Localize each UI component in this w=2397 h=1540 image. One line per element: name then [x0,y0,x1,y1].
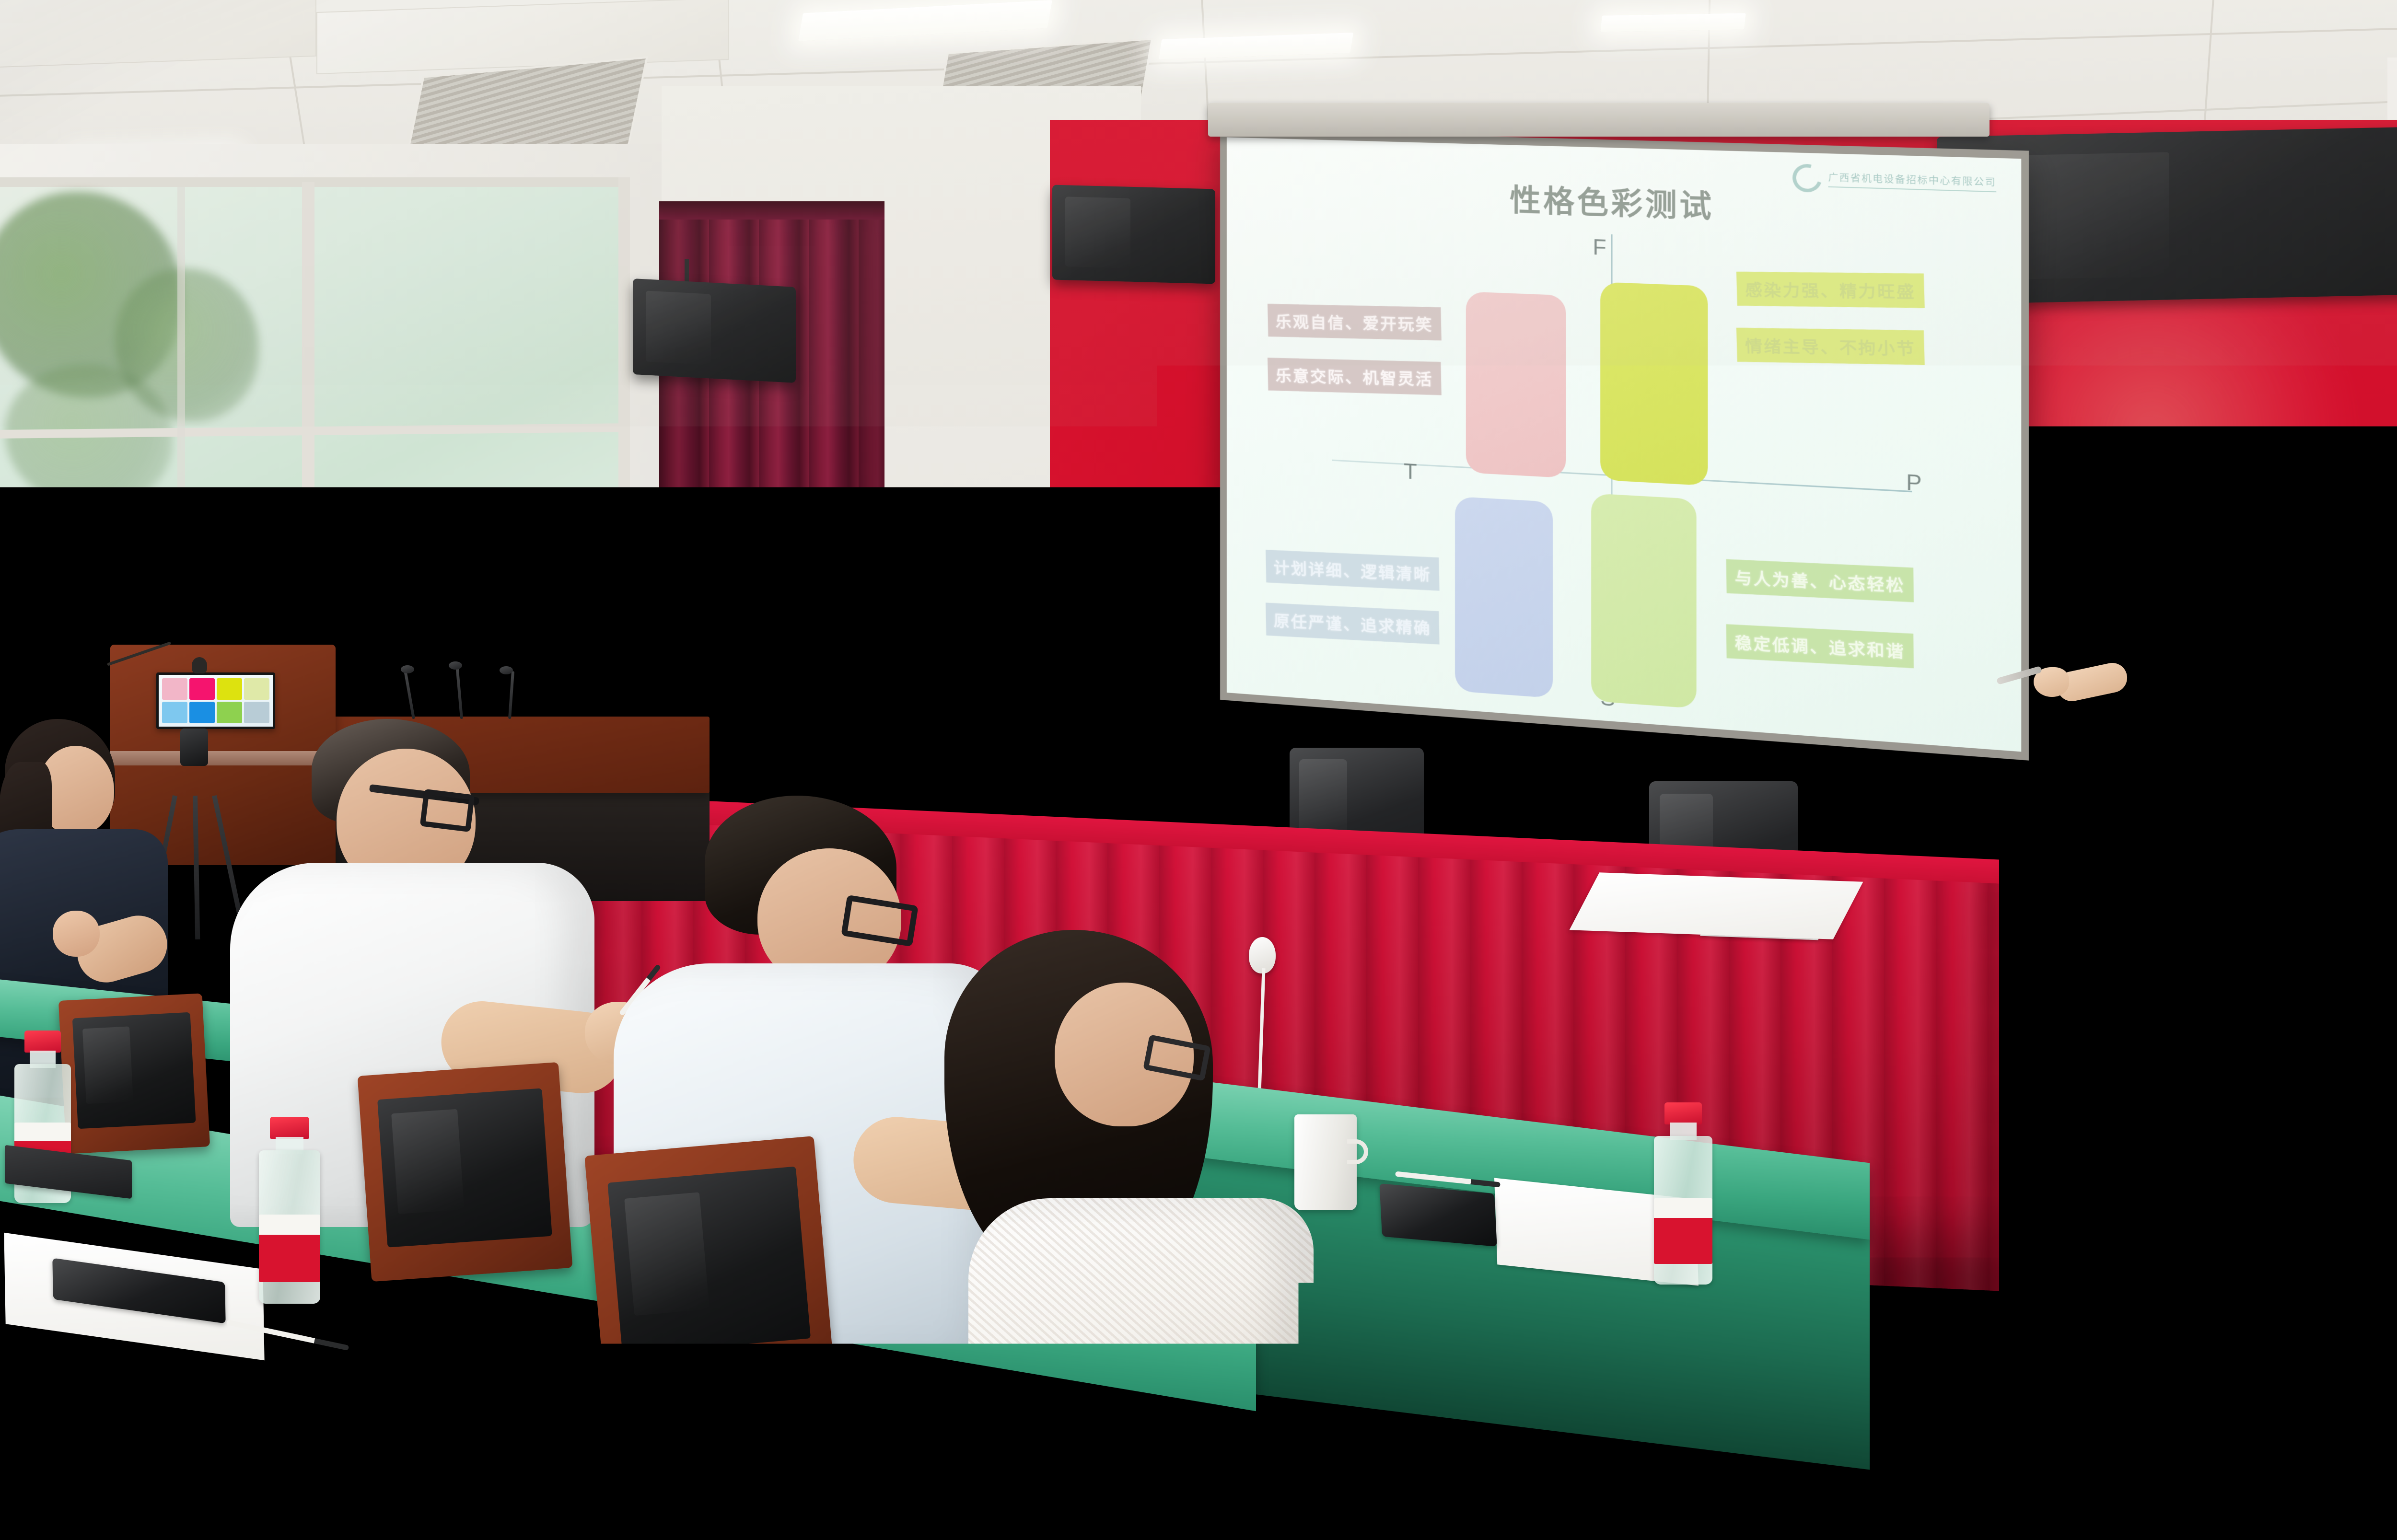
presenter-shoe-right [2221,1367,2297,1399]
bottle-3-body [1654,1136,1712,1285]
projector-screen-housing [1208,103,1990,137]
tag-blue-2: 原任严谨、追求精确 [1266,602,1440,644]
tag-green-2: 稳定低调、追求和谐 [1726,624,1914,668]
water-bottle-3[interactable] [1654,1102,1712,1285]
curtain-rail [659,201,884,220]
presenter-shoe-left [2152,1379,2228,1411]
tag-red-1: 乐观自信、爱开玩笑 [1268,304,1442,341]
chair-1-pad [72,1012,196,1129]
presenter-belt-buckle [2232,870,2258,893]
quadrant-green-box [1591,493,1697,708]
tag-red-2: 乐意交际、机智灵活 [1268,358,1442,395]
presenter-leg-left [2186,1280,2222,1395]
paper-head-table [1570,872,1863,939]
bottle-1-cap [24,1031,61,1053]
foreground-chair-1[interactable] [58,993,210,1154]
ceiling-light-3 [1159,33,1354,59]
swatch-1 [162,678,187,700]
foreground-chair-5[interactable] [25,1434,300,1540]
chair-4-pad [771,1274,1012,1504]
attendee-2-glasses-lens [420,789,475,832]
conference-mic-head-2 [449,661,462,670]
slide-canvas: 广西省机电设备招标中心有限公司 性格色彩测试 F T P S 乐观自信、爱开玩笑… [1227,137,2021,752]
attendee-1-hand [53,911,100,957]
presenter [2114,451,2344,1380]
presenter-leg-right [2240,1280,2276,1381]
ceiling-light-1 [798,0,1052,41]
tag-blue-1: 计划详细、逻辑清晰 [1266,550,1440,591]
wall-speaker-center [1052,185,1215,284]
tag-yellow-2: 情绪主导、不拘小节 [1736,328,1925,365]
bottle-3-cap [1664,1102,1702,1124]
quadrant-yellow-box [1600,282,1708,486]
chair-right-seat[interactable] [2392,1107,2397,1179]
ceiling-light-5 [1600,13,1746,32]
swatch-2 [189,678,215,700]
quadrant-red-box [1466,291,1566,478]
chair-2-pad [377,1088,552,1248]
axis-label-right: P [1906,470,1922,497]
axis-label-top: F [1593,235,1606,261]
projection-screen: 广西省机电设备招标中心有限公司 性格色彩测试 F T P S 乐观自信、爱开玩笑… [1220,129,2029,761]
axis-label-left: T [1404,460,1417,485]
quadrant-blue-box [1455,497,1553,698]
conference-room-photo: 广西省机电设备招标中心有限公司 性格色彩测试 F T P S 乐观自信、爱开玩笑… [0,0,2397,1540]
tag-green-1: 与人为善、心态轻松 [1726,559,1914,602]
tag-yellow-1: 感染力强、精力旺盛 [1736,272,1925,308]
bottle-2-cap [270,1117,309,1139]
lectern-mic-capsule [192,657,207,673]
foreground-chair-4[interactable] [743,1238,1040,1540]
conference-mic-head-1 [401,665,414,673]
conference-mic-head-3 [500,666,513,674]
presenter-skirt [2150,887,2345,1289]
ceiling-speaker-left [633,278,796,383]
chair-5-frame [25,1434,300,1540]
swatch-4 [244,678,269,700]
swatch-3 [217,678,242,700]
bottle-3-label [1654,1198,1712,1263]
